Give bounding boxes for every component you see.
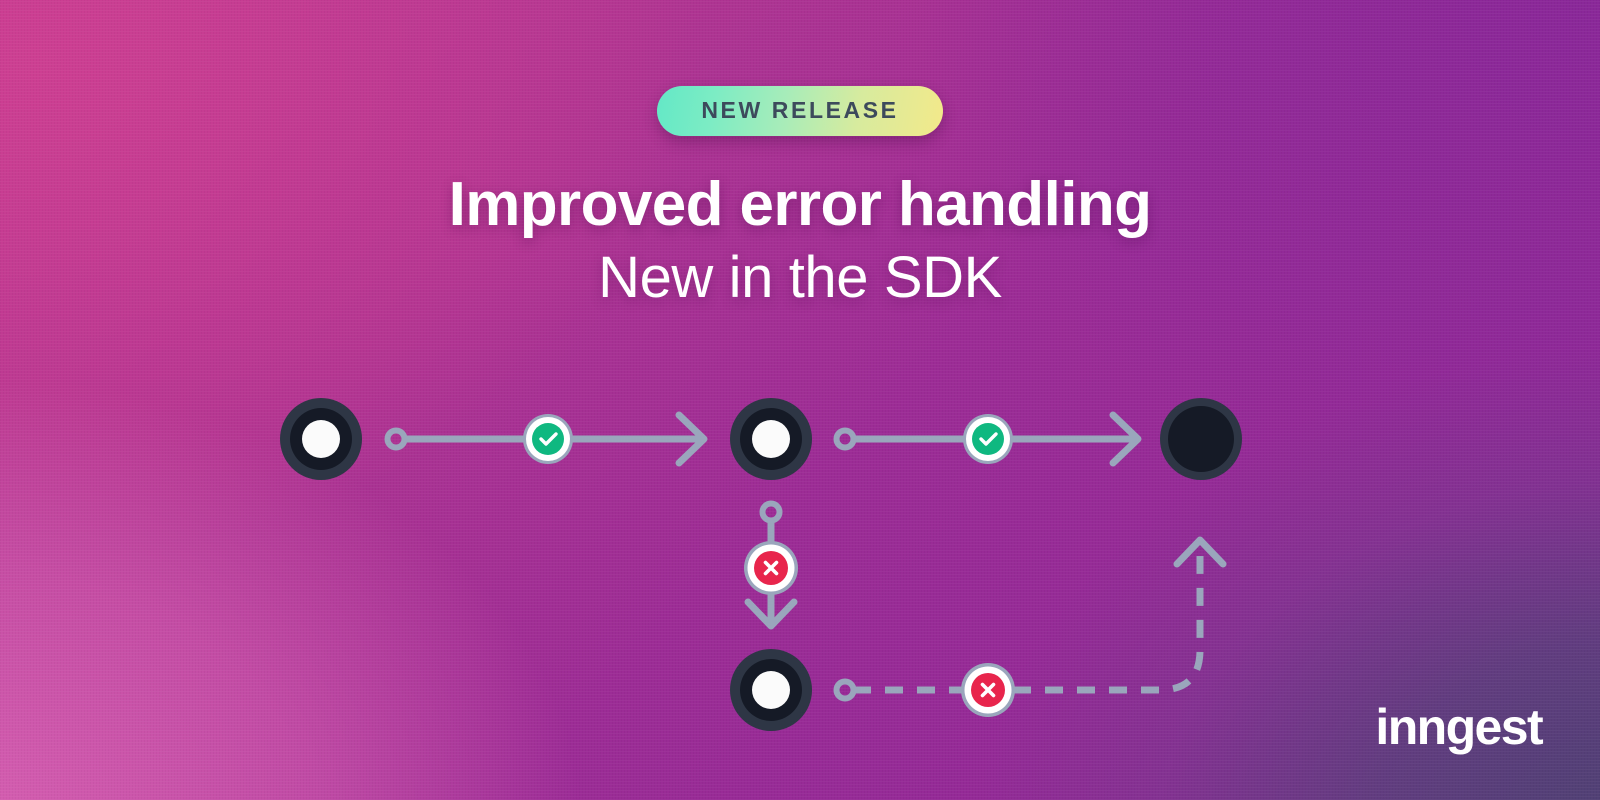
workflow-diagram bbox=[0, 0, 1600, 800]
inngest-logo: inngest bbox=[1375, 702, 1542, 752]
success-check-icon-2[interactable] bbox=[963, 414, 1013, 464]
error-cross-icon-2[interactable] bbox=[961, 663, 1015, 717]
step-node-end[interactable] bbox=[1160, 398, 1242, 480]
success-check-icon-1[interactable] bbox=[523, 414, 573, 464]
step-node-retry[interactable] bbox=[730, 649, 812, 731]
step-node-start[interactable] bbox=[280, 398, 362, 480]
edge-retry-to-end bbox=[837, 540, 1224, 699]
step-node-middle[interactable] bbox=[730, 398, 812, 480]
error-cross-icon-1[interactable] bbox=[744, 541, 798, 595]
release-announcement-graphic: NEW RELEASE Improved error handling New … bbox=[0, 0, 1600, 800]
